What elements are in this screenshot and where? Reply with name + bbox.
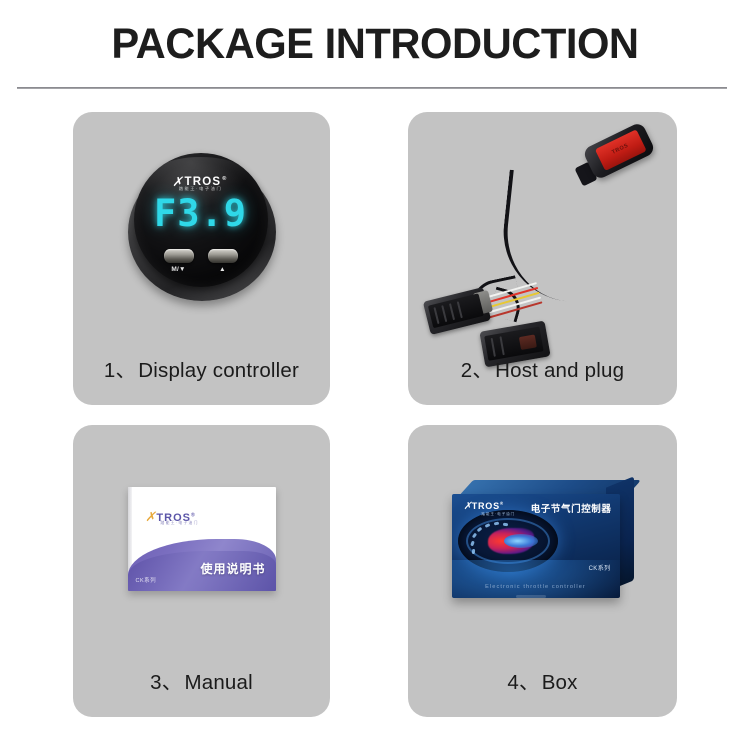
box-flame-highlight [504, 534, 538, 548]
product-grid: ✗TROS® 踏能王·电子油门 F3.9 M/▼ ▲ 1、Display [0, 0, 750, 750]
panel-1-image: ✗TROS® 踏能王·电子油门 F3.9 M/▼ ▲ [73, 112, 330, 341]
box-series-code: CK系列 [589, 563, 611, 572]
box-brand-text: TROS [472, 501, 500, 511]
panel-2-image: TROS [408, 112, 677, 341]
dial-tick [484, 523, 490, 528]
mode-down-button-label: M/▼ [162, 266, 196, 273]
connector-rib [449, 303, 455, 320]
panel-1-label: Display controller [138, 359, 299, 382]
mode-down-button[interactable] [164, 249, 194, 263]
host-module: TROS [582, 121, 656, 180]
host-and-harness-device: TROS [408, 112, 677, 341]
box-title-en: Electronic throttle controller [452, 584, 620, 590]
panel-3-number: 3、 [150, 671, 182, 694]
throttle-controller-device: ✗TROS® 踏能王·电子油门 F3.9 M/▼ ▲ [126, 151, 278, 303]
panel-1-caption: 1、Display controller [73, 353, 330, 383]
panel-2-number: 2、 [461, 359, 493, 382]
dial-tick [471, 549, 474, 554]
manual-series-code: CK系列 [136, 576, 157, 584]
panel-4-number: 4、 [507, 671, 539, 694]
panel-2-label: Host and plug [495, 359, 624, 382]
dial-tick [502, 523, 507, 526]
registered-mark: ® [500, 501, 504, 506]
panel-host-and-plug[interactable]: TROS [408, 112, 677, 405]
box-front-face: ✗TROS® 踏能王·电子油门 电子节气门控制器 CK系列 Electronic… [452, 494, 620, 598]
manual-brand-subtitle: 踏能王·电子油门 [161, 521, 199, 526]
dial-tick [493, 522, 498, 526]
panel-manual[interactable]: ✗TROS® 踏能王·电子油门 使用说明书 CK系列 3、Manual [73, 425, 330, 717]
panel-4-image: ✗TROS® 踏能王·电子油门 电子节气门控制器 CK系列 Electronic… [408, 425, 677, 653]
manual-title-cn: 使用说明书 [200, 560, 265, 577]
controller-face: ✗TROS® 踏能王·电子油门 F3.9 M/▼ ▲ [134, 153, 268, 287]
panel-1-number: 1、 [104, 359, 136, 382]
connector-male [423, 287, 491, 335]
retail-box: ✗TROS® 踏能王·电子油门 电子节气门控制器 CK系列 Electronic… [452, 480, 634, 598]
manual-booklet: ✗TROS® 踏能王·电子油门 使用说明书 CK系列 [128, 487, 276, 591]
connector-rib [457, 301, 463, 318]
star-icon: ✗ [462, 501, 474, 512]
dial-tick [471, 533, 476, 539]
registered-mark: ® [191, 512, 196, 518]
up-button-label: ▲ [206, 266, 240, 273]
panel-4-caption: 4、Box [408, 665, 677, 695]
connector-male-face [428, 293, 484, 328]
panel-3-label: Manual [184, 671, 252, 694]
box-brand-subtitle: 踏能王·电子油门 [482, 511, 516, 516]
package-introduction-page: PACKAGE INTRODUCTION ✗TROS® 踏能王·电子油门 F3.… [0, 0, 750, 750]
connector-rib [441, 305, 447, 322]
seven-segment-display: F3.9 [134, 195, 268, 232]
panel-3-image: ✗TROS® 踏能王·电子油门 使用说明书 CK系列 [73, 425, 330, 653]
box-flap-seam [516, 595, 546, 598]
connector-rib [433, 307, 439, 324]
panel-box[interactable]: ✗TROS® 踏能王·电子油门 电子节气门控制器 CK系列 Electronic… [408, 425, 677, 717]
connector-brown-keyway [519, 334, 537, 350]
up-button[interactable] [208, 249, 238, 263]
dial-tick [470, 541, 475, 547]
host-red-label: TROS [595, 129, 647, 171]
box-title-cn: 电子节气门控制器 [531, 501, 612, 515]
controller-button-row: M/▼ ▲ [134, 249, 268, 283]
panel-2-caption: 2、Host and plug [408, 353, 677, 383]
panel-3-caption: 3、Manual [73, 665, 330, 695]
host-label-text: TROS [598, 136, 642, 162]
panel-4-label: Box [542, 671, 578, 694]
panel-display-controller[interactable]: ✗TROS® 踏能王·电子油门 F3.9 M/▼ ▲ 1、Display [73, 112, 330, 405]
registered-mark: ® [222, 176, 227, 182]
dial-tick [476, 527, 482, 533]
